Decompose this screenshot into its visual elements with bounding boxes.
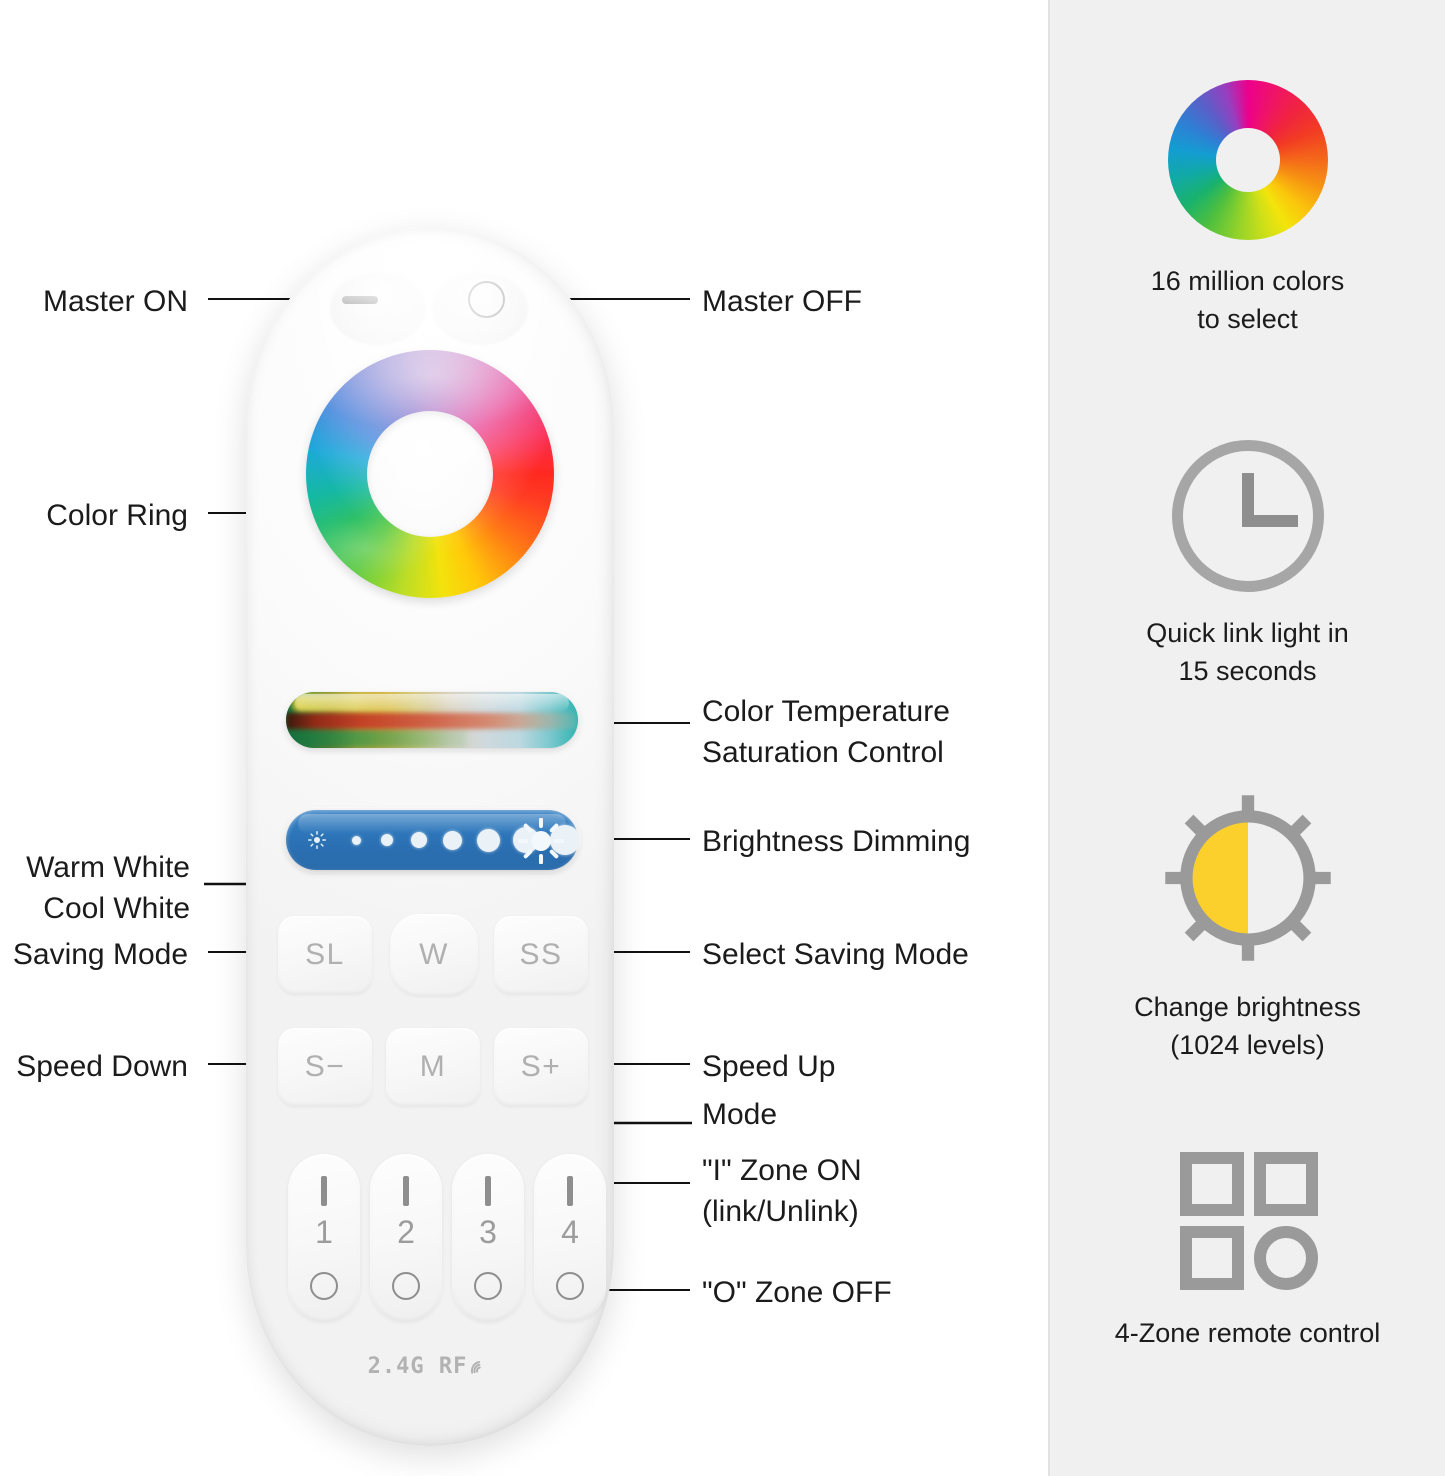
sat-bar-green-band <box>286 729 467 748</box>
four-zone-grid-icon <box>1050 1140 1445 1292</box>
zone-key-3[interactable]: 3 <box>452 1154 524 1322</box>
callout-color-ring: Color Ring <box>0 496 188 537</box>
zone-square-icon <box>1180 1226 1244 1290</box>
zone-key-4[interactable]: 4 <box>534 1154 606 1322</box>
feature-change-brightness: Change brightness (1024 levels) <box>1050 790 1445 1065</box>
feature-caption: 16 million colors to select <box>1050 262 1445 339</box>
callout-saving-mode: Saving Mode <box>0 935 188 976</box>
callout-speed-down: Speed Down <box>0 1047 188 1088</box>
key-speed-down[interactable]: S− <box>278 1028 372 1106</box>
feature-caption: 4-Zone remote control <box>1050 1314 1445 1352</box>
leader-brightness <box>604 838 690 840</box>
rf-logo-text: 2.4G RF <box>368 1354 468 1379</box>
zone-off-circle-icon <box>556 1272 584 1300</box>
feature-sidebar: 16 million colors to select Quick link l… <box>1050 0 1445 1476</box>
master-on-bar-icon <box>342 296 378 304</box>
leader-master-off <box>560 298 690 300</box>
leader-color-temp <box>604 722 690 724</box>
color-ring-center <box>367 411 493 537</box>
sat-bar-red-band <box>286 713 578 729</box>
zone-on-bar-icon <box>403 1176 409 1206</box>
master-on-button[interactable] <box>330 270 426 344</box>
feature-caption: Quick link light in 15 seconds <box>1050 614 1445 691</box>
callout-speed-up: Speed Up <box>702 1047 835 1088</box>
zone-on-bar-icon <box>485 1176 491 1206</box>
zone-circle-icon <box>1254 1226 1318 1290</box>
zone-on-bar-icon <box>567 1176 573 1206</box>
zone-number: 1 <box>288 1214 360 1251</box>
clock-hand-horizontal <box>1242 515 1298 527</box>
key-ss[interactable]: SS <box>494 916 588 994</box>
callout-select-saving-mode: Select Saving Mode <box>702 935 969 976</box>
zone-square-icon <box>1254 1152 1318 1216</box>
color-wheel-icon <box>1050 80 1445 240</box>
sun-small-icon <box>308 831 326 849</box>
brightness-dot <box>443 831 462 850</box>
leader-select-saving <box>602 951 690 953</box>
rf-logo: 2.4G RF <box>246 1354 614 1379</box>
zone-off-circle-icon <box>474 1272 502 1300</box>
zone-off-circle-icon <box>392 1272 420 1300</box>
zone-number: 3 <box>452 1214 524 1251</box>
feature-16-million-colors: 16 million colors to select <box>1050 80 1445 339</box>
leader-speed-up <box>602 1063 690 1065</box>
callout-color-temp: Color Temperature Saturation Control <box>702 692 950 774</box>
brightness-dot <box>381 834 393 846</box>
callout-master-on: Master ON <box>0 282 188 323</box>
remote-control-body: SL W SS S− M S+ 1 2 3 4 2.4G RF <box>246 228 614 1446</box>
callout-zone-off: "O" Zone OFF <box>702 1273 892 1314</box>
brightness-dimming-slider[interactable] <box>286 810 578 870</box>
wifi-signal-icon <box>468 1355 492 1375</box>
sun-large-icon <box>518 818 564 864</box>
key-speed-up[interactable]: S+ <box>494 1028 588 1106</box>
sat-bar-gloss <box>295 694 569 712</box>
zone-number: 2 <box>370 1214 442 1251</box>
zone-key-2[interactable]: 2 <box>370 1154 442 1322</box>
zone-number: 4 <box>534 1214 606 1251</box>
callout-warm-cool-white: Warm White Cool White <box>0 848 190 930</box>
zone-off-circle-icon <box>310 1272 338 1300</box>
feature-four-zone: 4-Zone remote control <box>1050 1140 1445 1352</box>
zone-key-1[interactable]: 1 <box>288 1154 360 1322</box>
brightness-dot <box>411 832 427 848</box>
callout-master-off: Master OFF <box>702 282 862 323</box>
brightness-dot <box>477 829 500 852</box>
sun-brightness-icon <box>1050 790 1445 966</box>
feature-caption: Change brightness (1024 levels) <box>1050 988 1445 1065</box>
key-w[interactable]: W <box>390 914 478 996</box>
zone-on-bar-icon <box>321 1176 327 1206</box>
clock-icon <box>1050 440 1445 592</box>
key-sl[interactable]: SL <box>278 916 372 994</box>
product-diagram: Master ON Color Ring Warm White Cool Whi… <box>0 0 1048 1476</box>
color-temperature-saturation-slider[interactable] <box>286 692 578 748</box>
color-ring-touchpad[interactable] <box>306 350 554 598</box>
master-off-circle-icon <box>468 281 505 318</box>
callout-zone-on: "I" Zone ON (link/Unlink) <box>702 1151 862 1233</box>
brightness-dot <box>352 836 361 845</box>
callout-brightness: Brightness Dimming <box>702 822 970 863</box>
feature-quick-link: Quick link light in 15 seconds <box>1050 440 1445 691</box>
key-mode[interactable]: M <box>386 1028 480 1106</box>
callout-mode: Mode <box>702 1095 777 1136</box>
zone-square-icon <box>1180 1152 1244 1216</box>
